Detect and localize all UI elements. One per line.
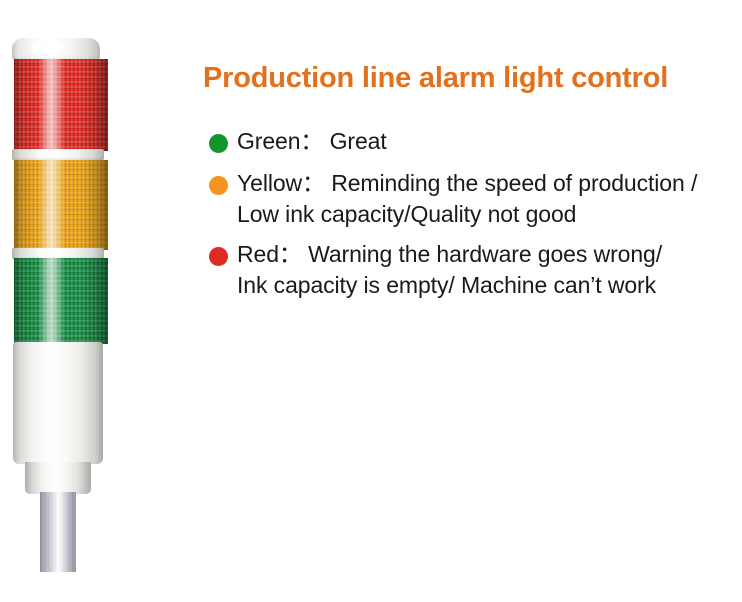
tower-light-separator-ring-upper [12, 149, 104, 160]
pole-highlight-texture [40, 492, 76, 572]
tower-light-segment-yellow [14, 160, 108, 250]
status-item-yellow: Yellow： Reminding the speed of productio… [203, 168, 742, 230]
status-bullet-red-icon [209, 247, 228, 266]
tower-light-segment-red [14, 59, 108, 151]
lens-barrel-shading-green [14, 258, 108, 344]
page-title: Production line alarm light control [203, 62, 668, 95]
tower-light-mounting-pole [40, 492, 76, 572]
tower-stack-light-image [0, 0, 140, 602]
tower-light-segment-green [14, 258, 108, 344]
status-text-yellow: Yellow： Reminding the speed of productio… [237, 168, 742, 230]
status-text-green: Green： Great [237, 126, 742, 157]
lens-barrel-shading-yellow [14, 160, 108, 250]
tower-light-base-housing [13, 342, 103, 464]
tower-light-base-neck [25, 462, 91, 494]
status-text-red: Red： Warning the hardware goes wrong/ In… [237, 239, 742, 301]
lens-barrel-shading-red [14, 59, 108, 151]
status-item-green: Green： Great [203, 126, 742, 157]
status-item-red: Red： Warning the hardware goes wrong/ In… [203, 239, 742, 301]
tower-light-cap-highlight [30, 44, 66, 52]
product-infographic: Production line alarm light control Gree… [0, 0, 742, 602]
description-panel: Production line alarm light control Gree… [203, 0, 742, 602]
status-bullet-green-icon [209, 134, 228, 153]
status-bullet-yellow-icon [209, 176, 228, 195]
